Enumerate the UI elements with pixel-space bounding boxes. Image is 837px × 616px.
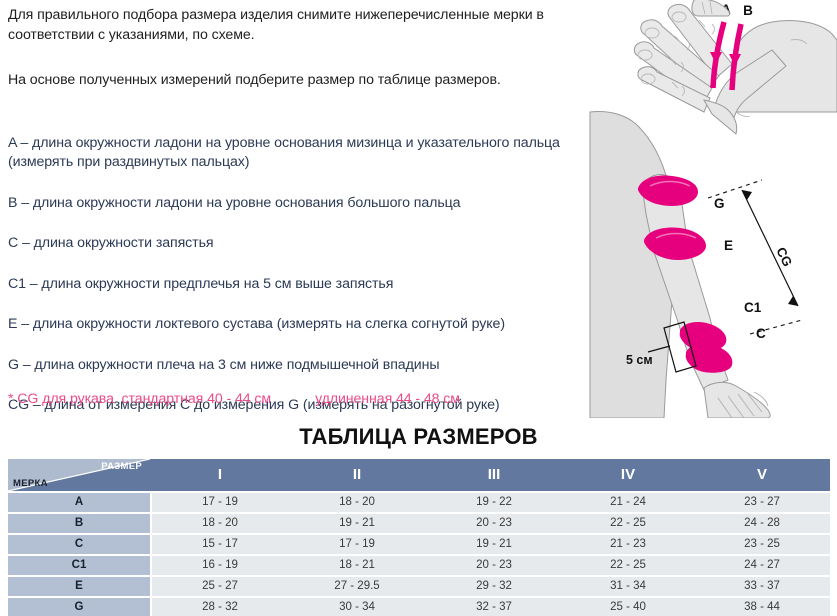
cell: 17 - 19: [289, 535, 425, 555]
cell: 25 - 40: [563, 598, 693, 616]
cell: 22 - 25: [563, 556, 693, 576]
hand-label-b: B: [743, 3, 753, 18]
column-header-v: V: [694, 459, 830, 491]
cell: 18 - 21: [289, 556, 425, 576]
measure-definition-c: C – длина окружности запястья: [8, 234, 586, 254]
cell: 20 - 23: [426, 514, 562, 534]
cell: 19 - 22: [426, 493, 562, 513]
row-cells: 17 - 19 18 - 20 19 - 22 21 - 24 23 - 27: [152, 493, 830, 513]
cell: 23 - 25: [694, 535, 830, 555]
cell: 32 - 37: [426, 598, 562, 616]
cell: 24 - 27: [694, 556, 830, 576]
cell: 38 - 44: [694, 598, 830, 616]
corner-label-size: РАЗМЕР: [101, 461, 142, 472]
cg-dimension-arrow: [742, 190, 798, 306]
arm-label-c: C: [756, 326, 766, 341]
row-cells: 25 - 27 27 - 29.5 29 - 32 31 - 34 33 - 3…: [152, 577, 830, 597]
cell: 29 - 32: [426, 577, 562, 597]
table-row: C1 16 - 19 18 - 21 20 - 23 22 - 25 24 - …: [8, 556, 830, 576]
cell: 25 - 27: [152, 577, 288, 597]
row-label: C1: [8, 556, 150, 576]
cg-sleeve-note: * CG для рукава стандартная 40 - 44 смуд…: [8, 391, 608, 407]
size-table: РАЗМЕР МЕРКА I II III IV V A 17 - 19 18 …: [8, 459, 830, 616]
measurement-diagrams: A B: [586, 0, 837, 418]
cell: 23 - 27: [694, 493, 830, 513]
cell: 21 - 23: [563, 535, 693, 555]
cg-note-extended: удлиненная 44 - 48 см: [315, 391, 460, 407]
measure-definition-c1: C1 – длина окружности предплечья на 5 см…: [8, 275, 586, 295]
row-cells: 28 - 32 30 - 34 32 - 37 25 - 40 38 - 44: [152, 598, 830, 616]
row-label: E: [8, 577, 150, 597]
arm-label-e: E: [724, 238, 733, 253]
table-row: C 15 - 17 17 - 19 19 - 21 21 - 23 23 - 2…: [8, 535, 830, 555]
bracket-label-5cm: 5 см: [626, 353, 653, 367]
table-row: G 28 - 32 30 - 34 32 - 37 25 - 40 38 - 4…: [8, 598, 830, 616]
intro-paragraph-2: На основе полученных измерений подберите…: [8, 71, 586, 91]
row-label: B: [8, 514, 150, 534]
cell: 20 - 23: [426, 556, 562, 576]
row-label: A: [8, 493, 150, 513]
column-header-iv: IV: [563, 459, 693, 491]
row-label: C: [8, 535, 150, 555]
size-guide-page: Для правильного подбора размера изделия …: [0, 0, 837, 616]
row-cells: 16 - 19 18 - 21 20 - 23 22 - 25 24 - 27: [152, 556, 830, 576]
cell: 19 - 21: [426, 535, 562, 555]
cell: 18 - 20: [152, 514, 288, 534]
cell: 27 - 29.5: [289, 577, 425, 597]
measure-definition-a: A – длина окружности ладони на уровне ос…: [8, 134, 586, 173]
cell: 21 - 24: [563, 493, 693, 513]
intro-paragraph-1: Для правильного подбора размера изделия …: [8, 6, 586, 45]
row-cells: 18 - 20 19 - 21 20 - 23 22 - 25 24 - 28: [152, 514, 830, 534]
table-corner-cell: РАЗМЕР МЕРКА: [8, 459, 150, 491]
cell: 15 - 17: [152, 535, 288, 555]
arm-band-c: [686, 344, 733, 373]
measure-definition-b: B – длина окружности ладони на уровне ос…: [8, 194, 586, 214]
hand-diagram-icon: A B: [634, 2, 837, 134]
measure-definition-g: G – длина окружности плеча на 3 см ниже …: [8, 356, 586, 376]
arm-label-cg: CG: [773, 245, 795, 269]
instructions-column: Для правильного подбора размера изделия …: [8, 6, 586, 416]
row-label: G: [8, 598, 150, 616]
cell: 16 - 19: [152, 556, 288, 576]
cell: 19 - 21: [289, 514, 425, 534]
cell: 22 - 25: [563, 514, 693, 534]
page-title: ТАБЛИЦА РАЗМЕРОВ: [0, 424, 837, 450]
table-row: B 18 - 20 19 - 21 20 - 23 22 - 25 24 - 2…: [8, 514, 830, 534]
cell: 18 - 20: [289, 493, 425, 513]
table-row: E 25 - 27 27 - 29.5 29 - 32 31 - 34 33 -…: [8, 577, 830, 597]
column-header-ii: II: [289, 459, 425, 491]
table-row: A 17 - 19 18 - 20 19 - 22 21 - 24 23 - 2…: [8, 493, 830, 513]
arm-label-c1: C1: [744, 300, 762, 315]
cell: 17 - 19: [152, 493, 288, 513]
corner-label-measure: МЕРКА: [13, 478, 48, 489]
arm-label-g: G: [714, 196, 725, 211]
row-cells: 15 - 17 17 - 19 19 - 21 21 - 23 23 - 25: [152, 535, 830, 555]
cell: 33 - 37: [694, 577, 830, 597]
cg-note-standard: * CG для рукава стандартная 40 - 44 см: [8, 391, 271, 407]
column-header-iii: III: [426, 459, 562, 491]
cell: 24 - 28: [694, 514, 830, 534]
cell: 30 - 34: [289, 598, 425, 616]
measure-definition-e: E – длина окружности локтевого сустава (…: [8, 315, 586, 335]
table-header-row: РАЗМЕР МЕРКА I II III IV V: [8, 459, 830, 491]
cell: 31 - 34: [563, 577, 693, 597]
column-header-i: I: [152, 459, 288, 491]
cell: 28 - 32: [152, 598, 288, 616]
